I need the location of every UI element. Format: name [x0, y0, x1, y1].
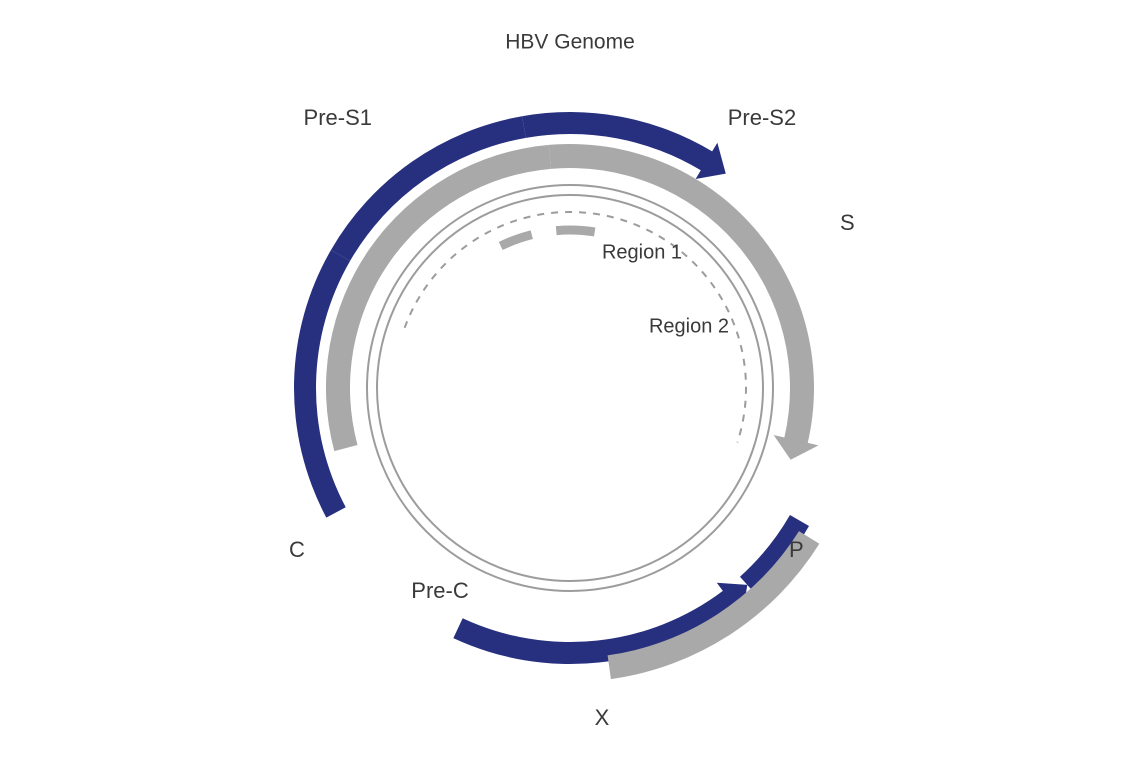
orf-label-s: S — [840, 210, 855, 235]
orf-label-pre-c: Pre-C — [411, 578, 469, 603]
orf-label-p: P — [789, 537, 804, 562]
orf-label-pre-s1: Pre-S1 — [304, 105, 372, 130]
genome-canvas: HBV Genome Pre-S1Pre-S2SCPre-CPXRegion 1… — [0, 0, 1140, 760]
orf-label-c: C — [289, 537, 305, 562]
page-title: HBV Genome — [505, 31, 635, 54]
orf-arc-pre-s2 — [331, 116, 526, 261]
dna-strand-layer — [367, 185, 773, 591]
region-marker-region-1 — [499, 230, 533, 250]
dna-strand-outer — [367, 185, 773, 591]
dna-strand-inner — [377, 195, 763, 581]
orf-label-x: X — [595, 705, 610, 730]
region-label-region-1: Region 1 — [602, 241, 682, 263]
region-marker-layer — [499, 226, 596, 251]
arc-layer — [294, 112, 819, 679]
region-label-region-2: Region 2 — [649, 315, 729, 337]
orf-label-pre-s2: Pre-S2 — [728, 105, 796, 130]
orf-arc-s-gray — [326, 145, 551, 451]
region-marker-region-2 — [556, 226, 596, 237]
hbv-genome-diagram: HBV Genome Pre-S1Pre-S2SCPre-CPXRegion 1… — [0, 0, 1140, 760]
orf-arc-p — [549, 144, 819, 460]
